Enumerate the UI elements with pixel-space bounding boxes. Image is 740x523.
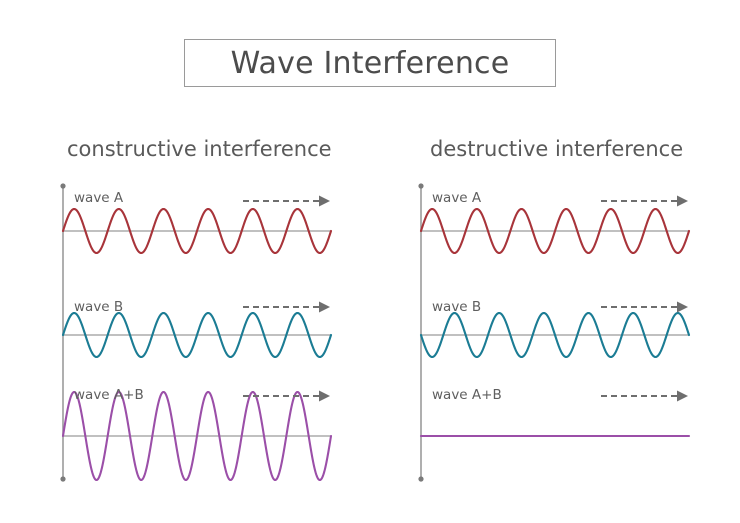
wave-label-constructive-2: wave A+B <box>74 387 144 403</box>
propagation-arrow-head-icon <box>319 391 330 402</box>
wave-label-destructive-1: wave B <box>432 299 481 315</box>
axis-endpoint-dot-top <box>60 183 65 188</box>
wave-row-destructive-0: wave A <box>421 190 689 253</box>
wave-row-constructive-1: wave B <box>63 299 331 357</box>
wave-label-destructive-2: wave A+B <box>432 387 502 403</box>
panel-constructive: wave Awave Bwave A+B <box>60 183 331 481</box>
panel-destructive: wave Awave Bwave A+B <box>418 183 689 481</box>
propagation-arrow-head-icon <box>677 302 688 313</box>
propagation-arrow-head-icon <box>319 302 330 313</box>
propagation-arrow-head-icon <box>677 391 688 402</box>
wave-row-constructive-2: wave A+B <box>63 387 331 480</box>
wave-row-destructive-1: wave B <box>421 299 689 357</box>
wave-interference-figure: Wave Interference constructive interfere… <box>0 0 740 523</box>
axis-endpoint-dot-bottom <box>418 476 423 481</box>
axis-endpoint-dot-bottom <box>60 476 65 481</box>
wave-row-constructive-0: wave A <box>63 190 331 253</box>
propagation-arrow-head-icon <box>677 196 688 207</box>
wave-label-destructive-0: wave A <box>432 190 482 206</box>
axis-endpoint-dot-top <box>418 183 423 188</box>
propagation-arrow-head-icon <box>319 196 330 207</box>
wave-plots: wave Awave Bwave A+Bwave Awave Bwave A+B <box>0 0 740 523</box>
wave-label-constructive-1: wave B <box>74 299 123 315</box>
wave-row-destructive-2: wave A+B <box>421 387 689 436</box>
wave-label-constructive-0: wave A <box>74 190 124 206</box>
